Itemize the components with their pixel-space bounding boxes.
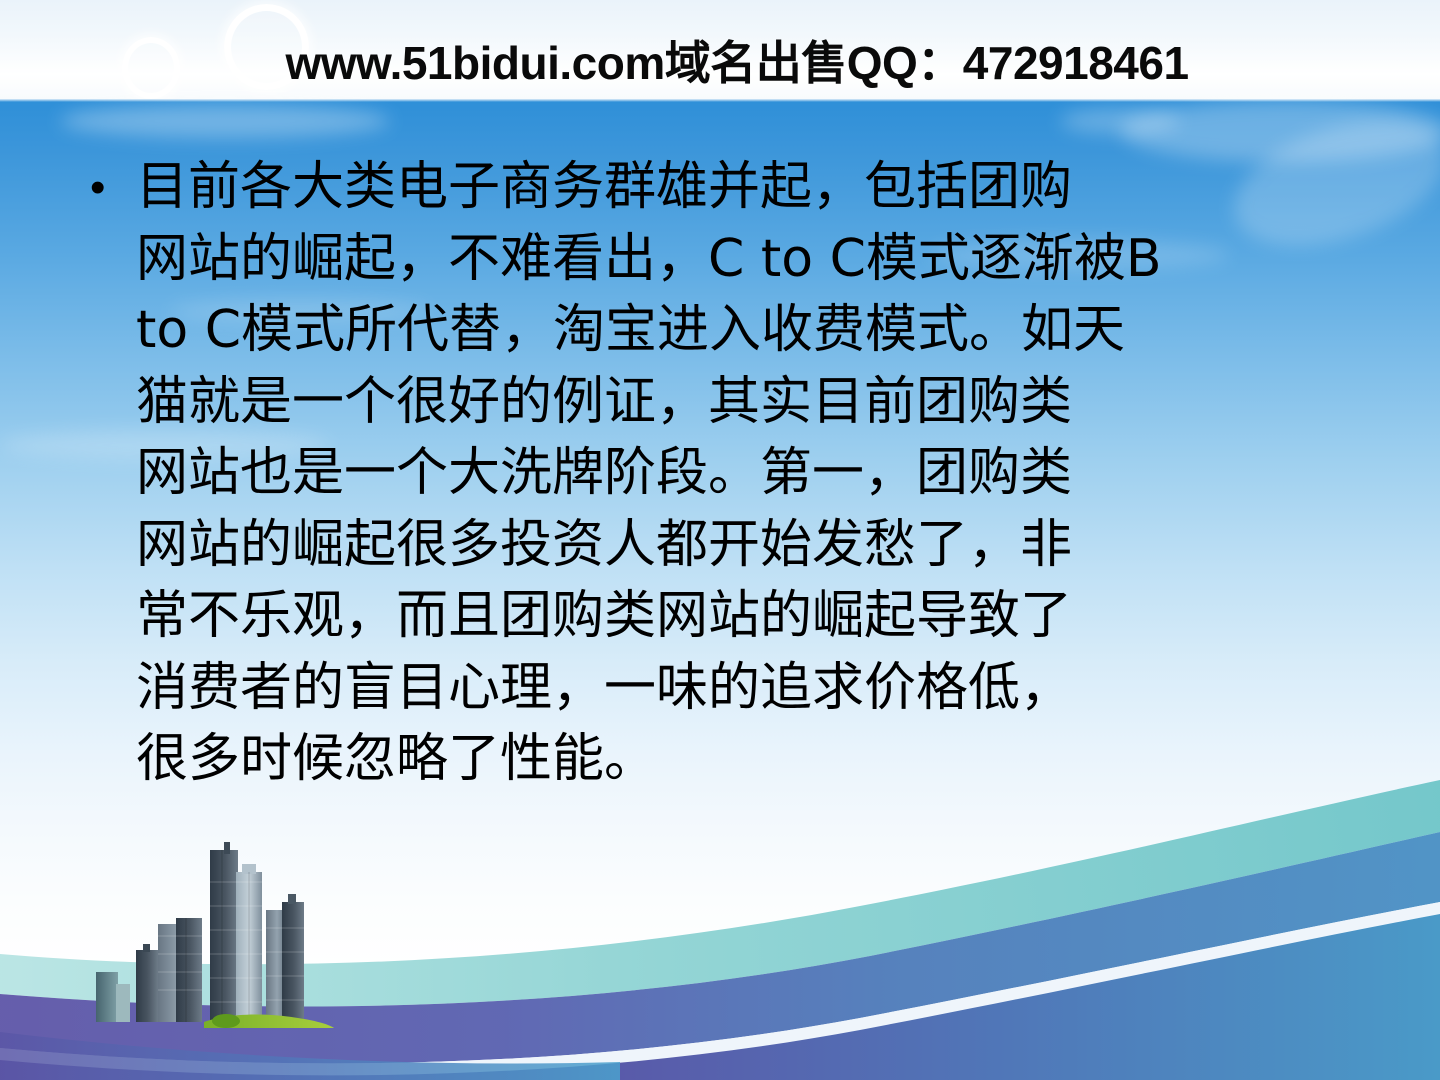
body-line: 常不乐观，而且团购类网站的崛起导致了 — [136, 581, 1384, 653]
watermark-text: www.51bidui.com域名出售QQ：472918461 — [0, 27, 1440, 93]
body-line: 消费者的盲目心理，一味的追求价格低， — [136, 653, 1384, 725]
body-line: 网站也是一个大洗牌阶段。第一，团购类 — [136, 438, 1384, 510]
body-line: 网站的崛起很多投资人都开始发愁了，非 — [136, 510, 1384, 582]
city-skyline-illustration — [86, 832, 346, 1032]
body-line: 网站的崛起，不难看出，C to C模式逐渐被B — [136, 224, 1384, 296]
bullet-list-item: • 目前各大类电子商务群雄并起，包括团购 网站的崛起，不难看出，C to C模式… — [84, 152, 1384, 796]
body-line: to C模式所代替，淘宝进入收费模式。如天 — [136, 295, 1384, 367]
bullet-point-icon: • — [84, 152, 136, 224]
body-line: 猫就是一个很好的例证，其实目前团购类 — [136, 367, 1384, 439]
slide-body: • 目前各大类电子商务群雄并起，包括团购 网站的崛起，不难看出，C to C模式… — [84, 152, 1384, 796]
cloud-wisp-icon — [1060, 108, 1180, 134]
slide-canvas: www.51bidui.com域名出售QQ：472918461 • 目前各大类电… — [0, 0, 1440, 1080]
body-paragraph: 目前各大类电子商务群雄并起，包括团购 网站的崛起，不难看出，C to C模式逐渐… — [136, 152, 1384, 796]
cloud-wisp-icon — [60, 104, 390, 138]
body-line: 目前各大类电子商务群雄并起，包括团购 — [136, 152, 1384, 224]
